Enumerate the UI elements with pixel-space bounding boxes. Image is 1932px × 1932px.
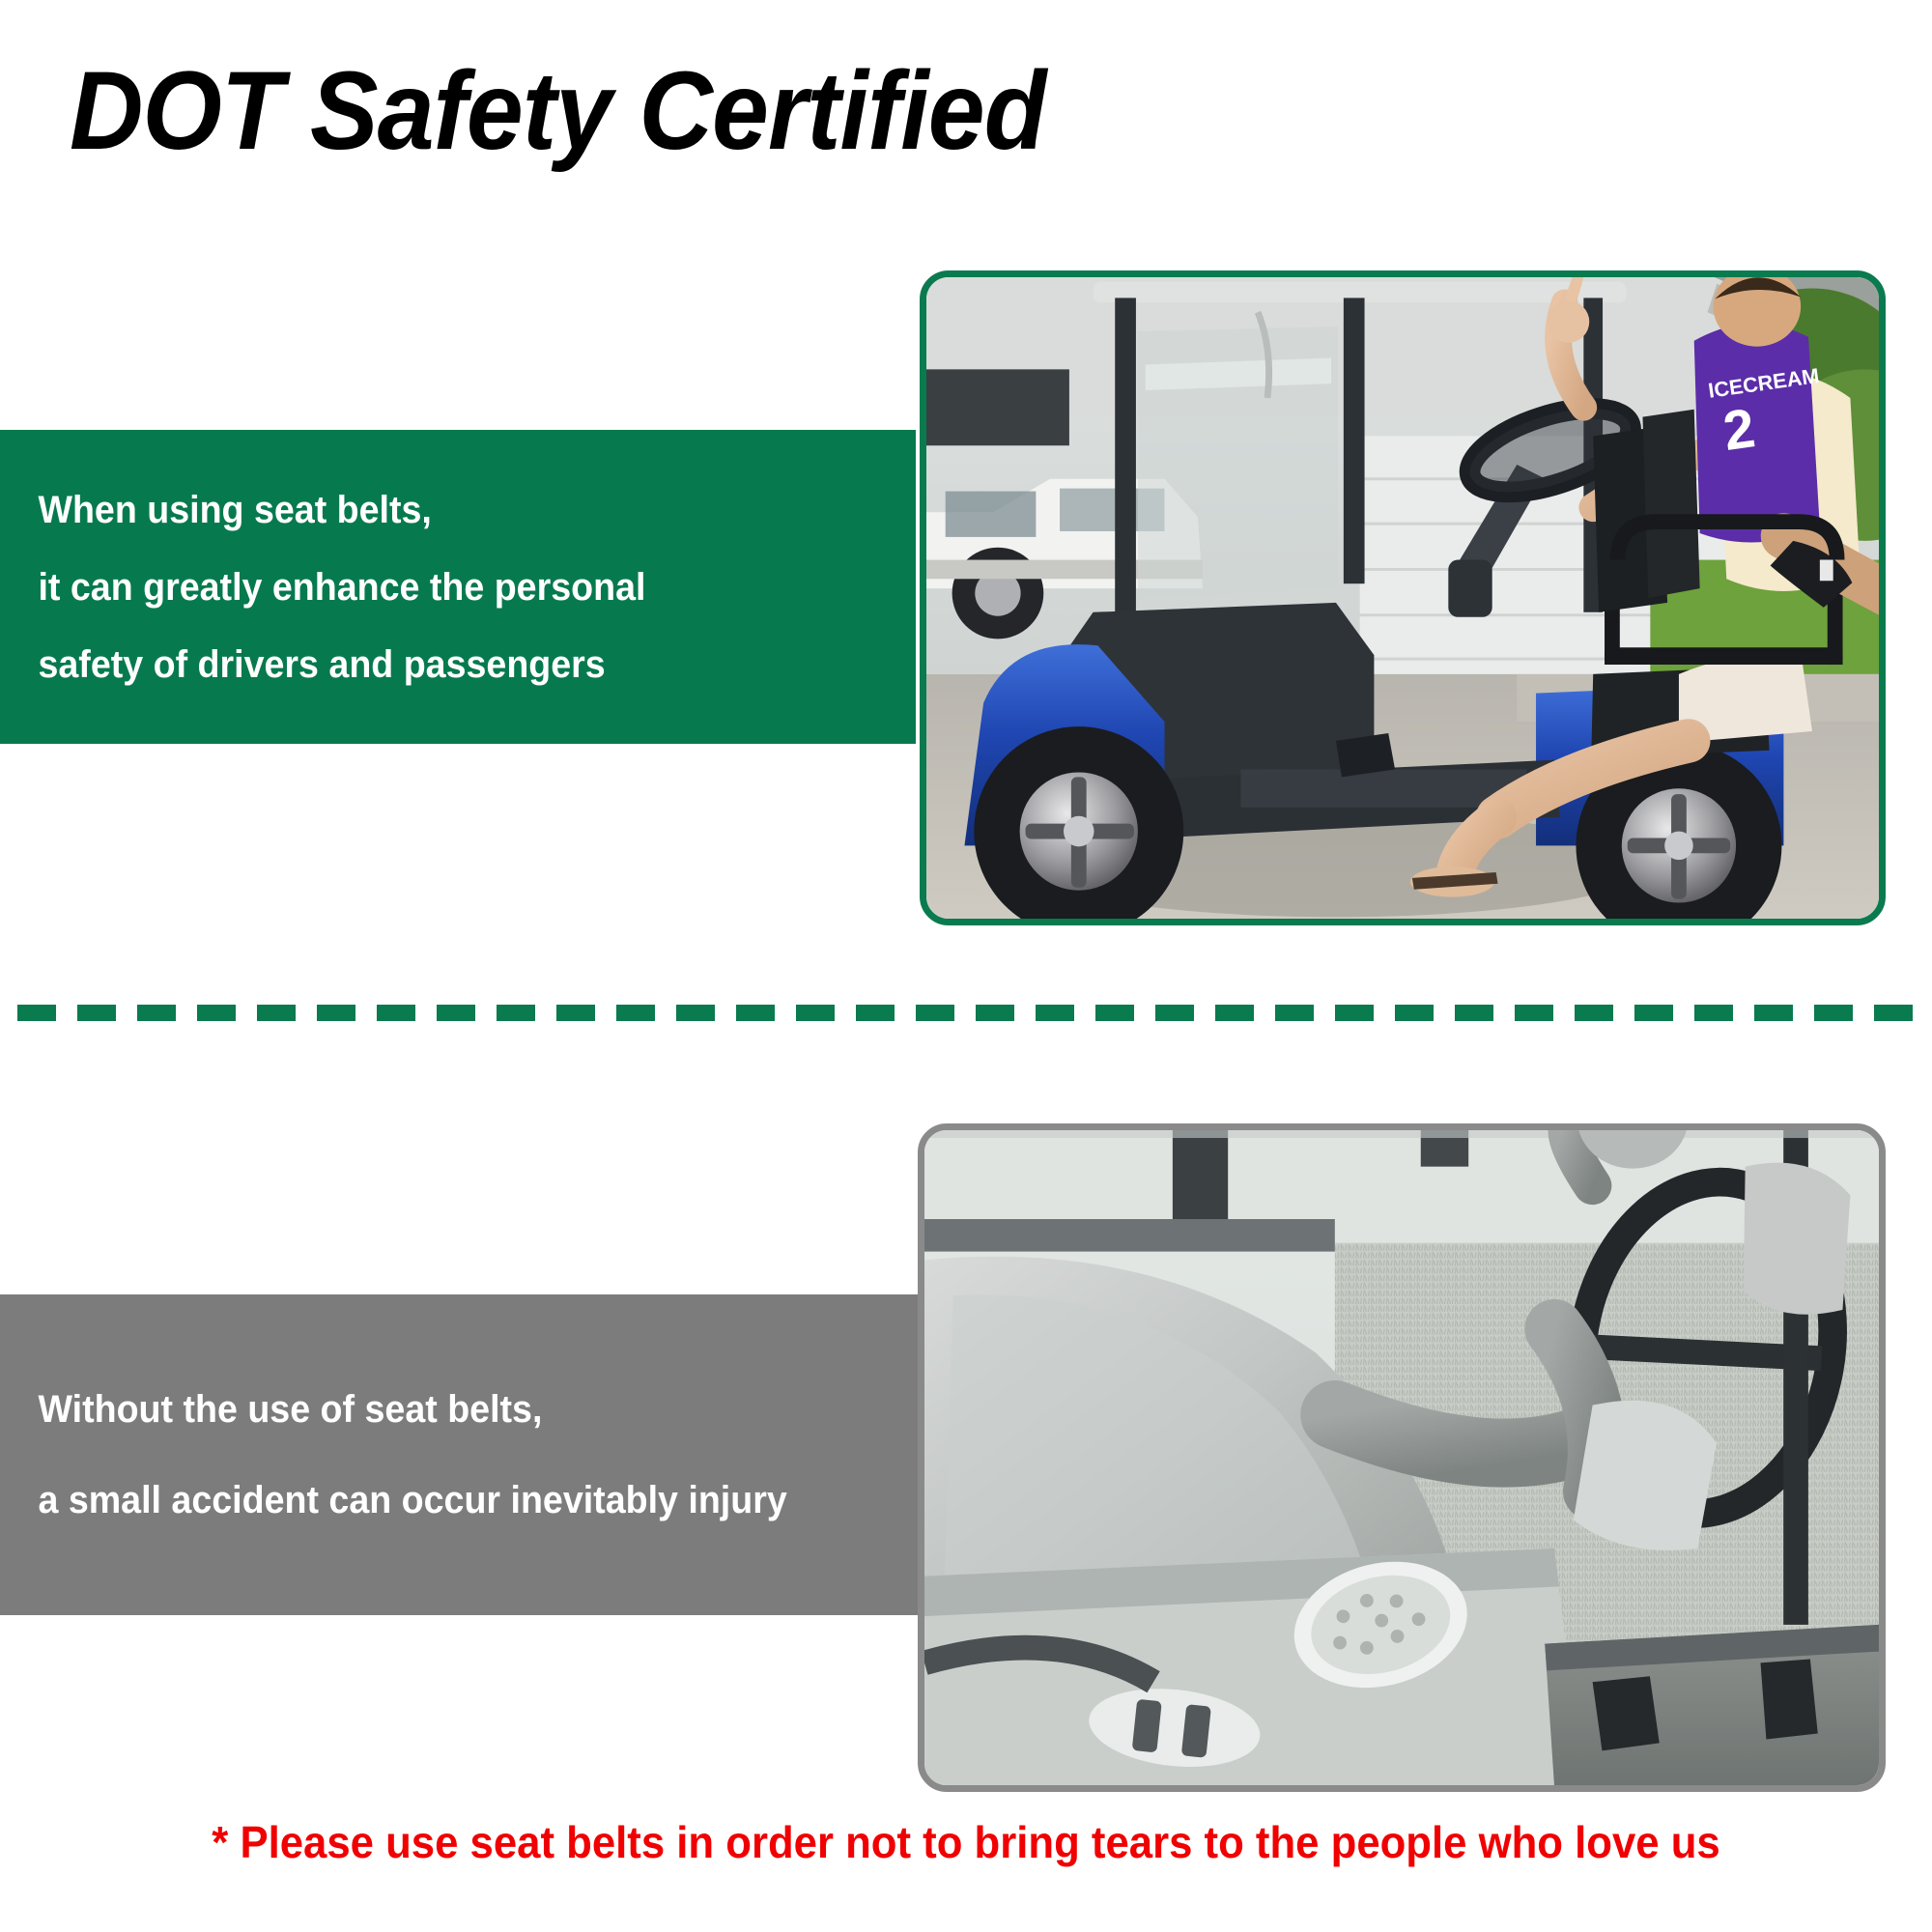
photo-without-seatbelt [918,1123,1886,1792]
green-banner-line-2: it can greatly enhance the personal [0,549,861,626]
footer-warning-note: * Please use seat belts in order not to … [48,1816,1884,1868]
photo-top-image: EZGO [926,277,1879,919]
gray-banner-line-1: Without the use of seat belts, [0,1364,863,1455]
photo-with-seatbelt: EZGO [920,270,1886,925]
page-title: DOT Safety Certified [70,56,1045,167]
gray-banner-line-2: a small accident can occur inevitably in… [0,1455,863,1546]
green-info-banner: When using seat belts, it can greatly en… [0,430,916,744]
gray-warning-banner: Without the use of seat belts, a small a… [0,1294,918,1615]
dashed-divider [17,1005,1917,1021]
green-banner-line-3: safety of drivers and passengers [0,626,861,703]
green-banner-line-1: When using seat belts, [0,471,861,549]
photo-bottom-image [924,1130,1879,1785]
infographic-page: DOT Safety Certified [0,0,1932,1932]
